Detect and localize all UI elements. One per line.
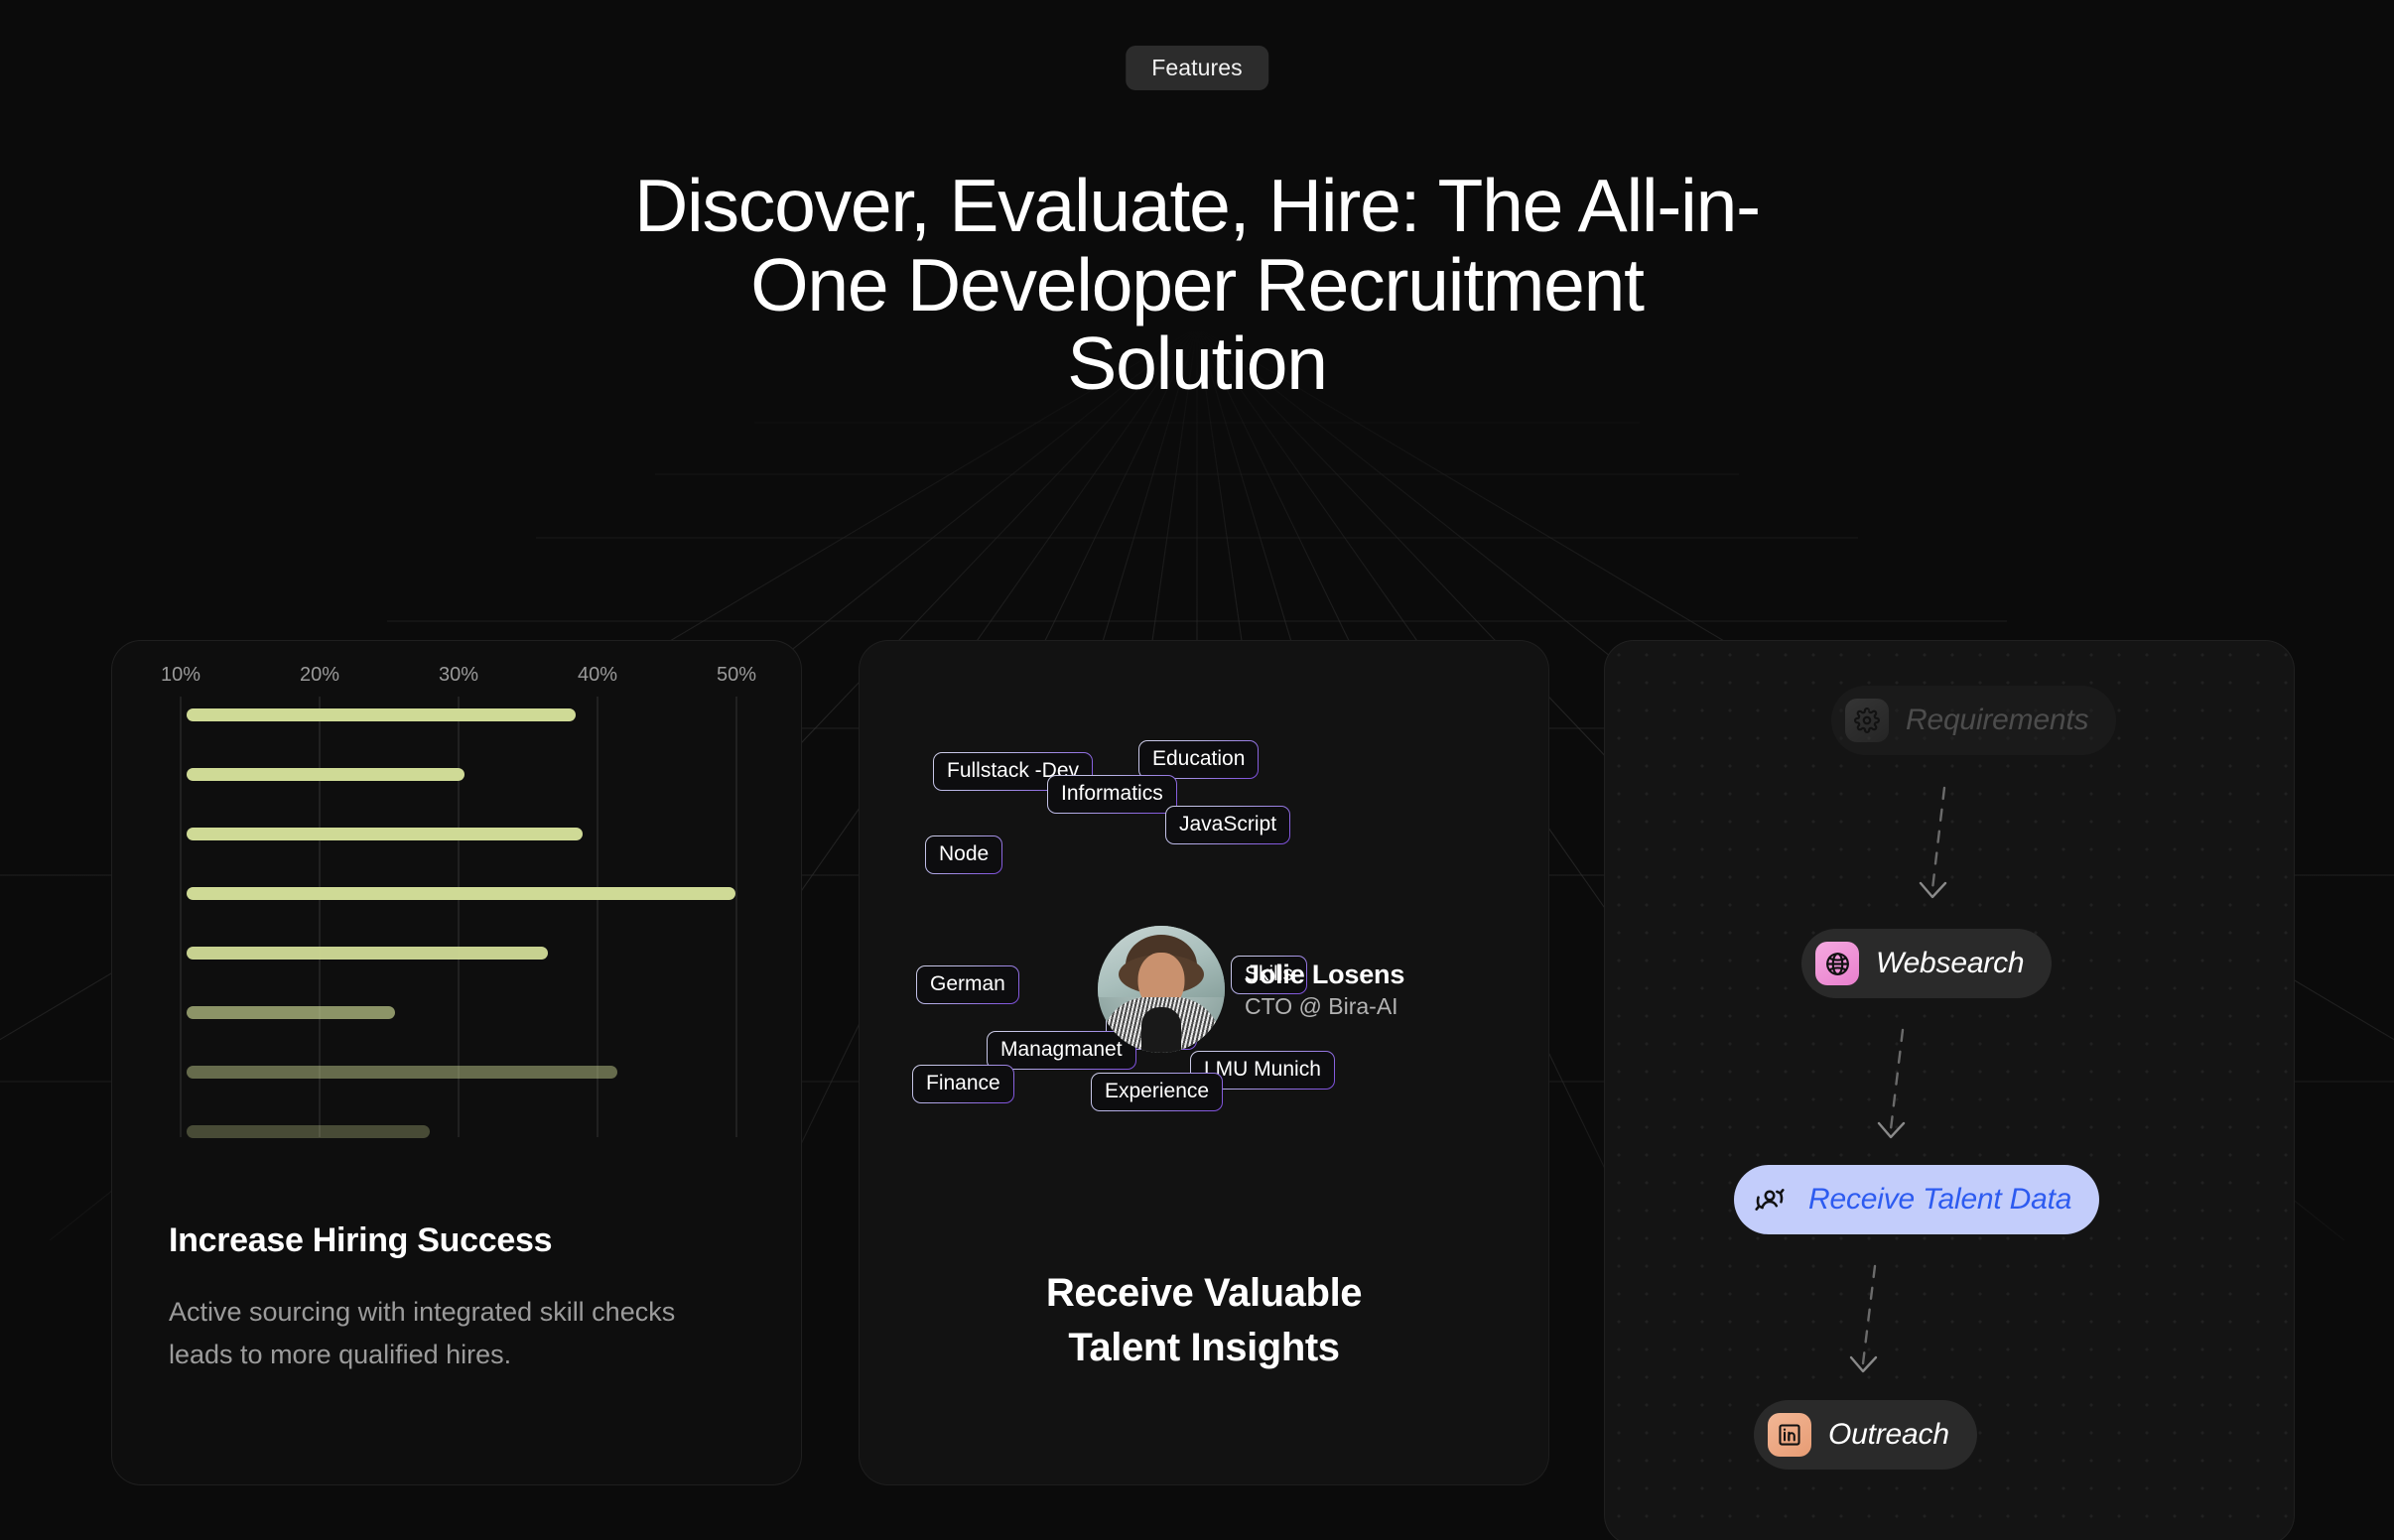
headline-line-1: Discover, Evaluate, Hire: The All-in- bbox=[537, 167, 1857, 246]
workflow-step-receive-talent-data[interactable]: Receive Talent Data bbox=[1734, 1165, 2099, 1234]
talent-tag-cloud: Fullstack -Dev Education Informatics Jav… bbox=[860, 641, 1548, 1246]
page-title: Discover, Evaluate, Hire: The All-in- On… bbox=[537, 167, 1857, 404]
x-tick-50: 50% bbox=[717, 664, 756, 686]
card2-title-line-1: Receive Valuable bbox=[1046, 1271, 1362, 1315]
page-root: Features Discover, Evaluate, Hire: The A… bbox=[0, 0, 2394, 1540]
bar-5 bbox=[187, 947, 548, 960]
linkedin-icon bbox=[1768, 1413, 1811, 1457]
tag-experience[interactable]: Experience bbox=[1091, 1073, 1223, 1111]
workflow-step-label: Requirements bbox=[1906, 704, 2088, 737]
tag-node[interactable]: Node bbox=[925, 835, 1002, 874]
bar-7 bbox=[187, 1066, 617, 1079]
feature-cards-row: 10% 20% 30% 40% 50% bbox=[0, 640, 2394, 1540]
workflow-step-requirements[interactable]: Requirements bbox=[1831, 686, 2116, 755]
tag-javascript[interactable]: JavaScript bbox=[1165, 806, 1290, 844]
card-increase-hiring-success[interactable]: 10% 20% 30% 40% 50% bbox=[111, 640, 802, 1485]
workflow-step-outreach[interactable]: Outreach bbox=[1754, 1400, 1977, 1470]
talent-profile: Jolie Losens CTO @ Bira-AI bbox=[1098, 926, 1404, 1053]
user-sync-icon bbox=[1748, 1178, 1792, 1221]
workflow-diagram: Requirements Websearch bbox=[1605, 641, 2294, 1540]
features-badge: Features bbox=[1126, 46, 1268, 90]
x-tick-30: 30% bbox=[439, 664, 478, 686]
avatar bbox=[1098, 926, 1225, 1053]
workflow-step-label: Outreach bbox=[1828, 1418, 1949, 1452]
tag-informatics[interactable]: Informatics bbox=[1047, 775, 1177, 814]
workflow-step-label: Websearch bbox=[1876, 947, 2024, 980]
bar-6 bbox=[187, 1006, 395, 1019]
workflow-step-label: Receive Talent Data bbox=[1808, 1183, 2071, 1217]
bar-2 bbox=[187, 768, 465, 781]
talent-name: Jolie Losens bbox=[1245, 960, 1404, 990]
tag-finance[interactable]: Finance bbox=[912, 1065, 1014, 1103]
card1-title: Increase Hiring Success bbox=[169, 1221, 744, 1260]
x-tick-40: 40% bbox=[578, 664, 617, 686]
x-tick-20: 20% bbox=[300, 664, 339, 686]
bar-1 bbox=[187, 708, 576, 721]
bar-3 bbox=[187, 828, 583, 840]
globe-icon bbox=[1815, 942, 1859, 985]
headline-line-2: One Developer Recruitment bbox=[537, 246, 1857, 325]
talent-identity: Jolie Losens CTO @ Bira-AI bbox=[1245, 960, 1404, 1020]
x-tick-10: 10% bbox=[161, 664, 200, 686]
talent-role: CTO @ Bira-AI bbox=[1245, 993, 1404, 1020]
bar-8 bbox=[187, 1125, 430, 1138]
card2-title-line-2: Talent Insights bbox=[1068, 1326, 1339, 1369]
tag-education[interactable]: Education bbox=[1138, 740, 1259, 779]
bar-4 bbox=[187, 887, 735, 900]
headline-line-3: Solution bbox=[537, 324, 1857, 404]
card1-description: Active sourcing with integrated skill ch… bbox=[169, 1291, 725, 1375]
skills-bar-chart: 10% 20% 30% 40% 50% bbox=[112, 641, 801, 1157]
card2-title: Receive Valuable Talent Insights bbox=[860, 1266, 1548, 1375]
card-talent-insights[interactable]: Fullstack -Dev Education Informatics Jav… bbox=[859, 640, 1549, 1485]
card-recruitment-workflow[interactable]: Requirements Websearch bbox=[1604, 640, 2295, 1540]
gear-icon bbox=[1845, 699, 1889, 742]
workflow-step-websearch[interactable]: Websearch bbox=[1801, 929, 2052, 998]
tag-german[interactable]: German bbox=[916, 965, 1019, 1004]
